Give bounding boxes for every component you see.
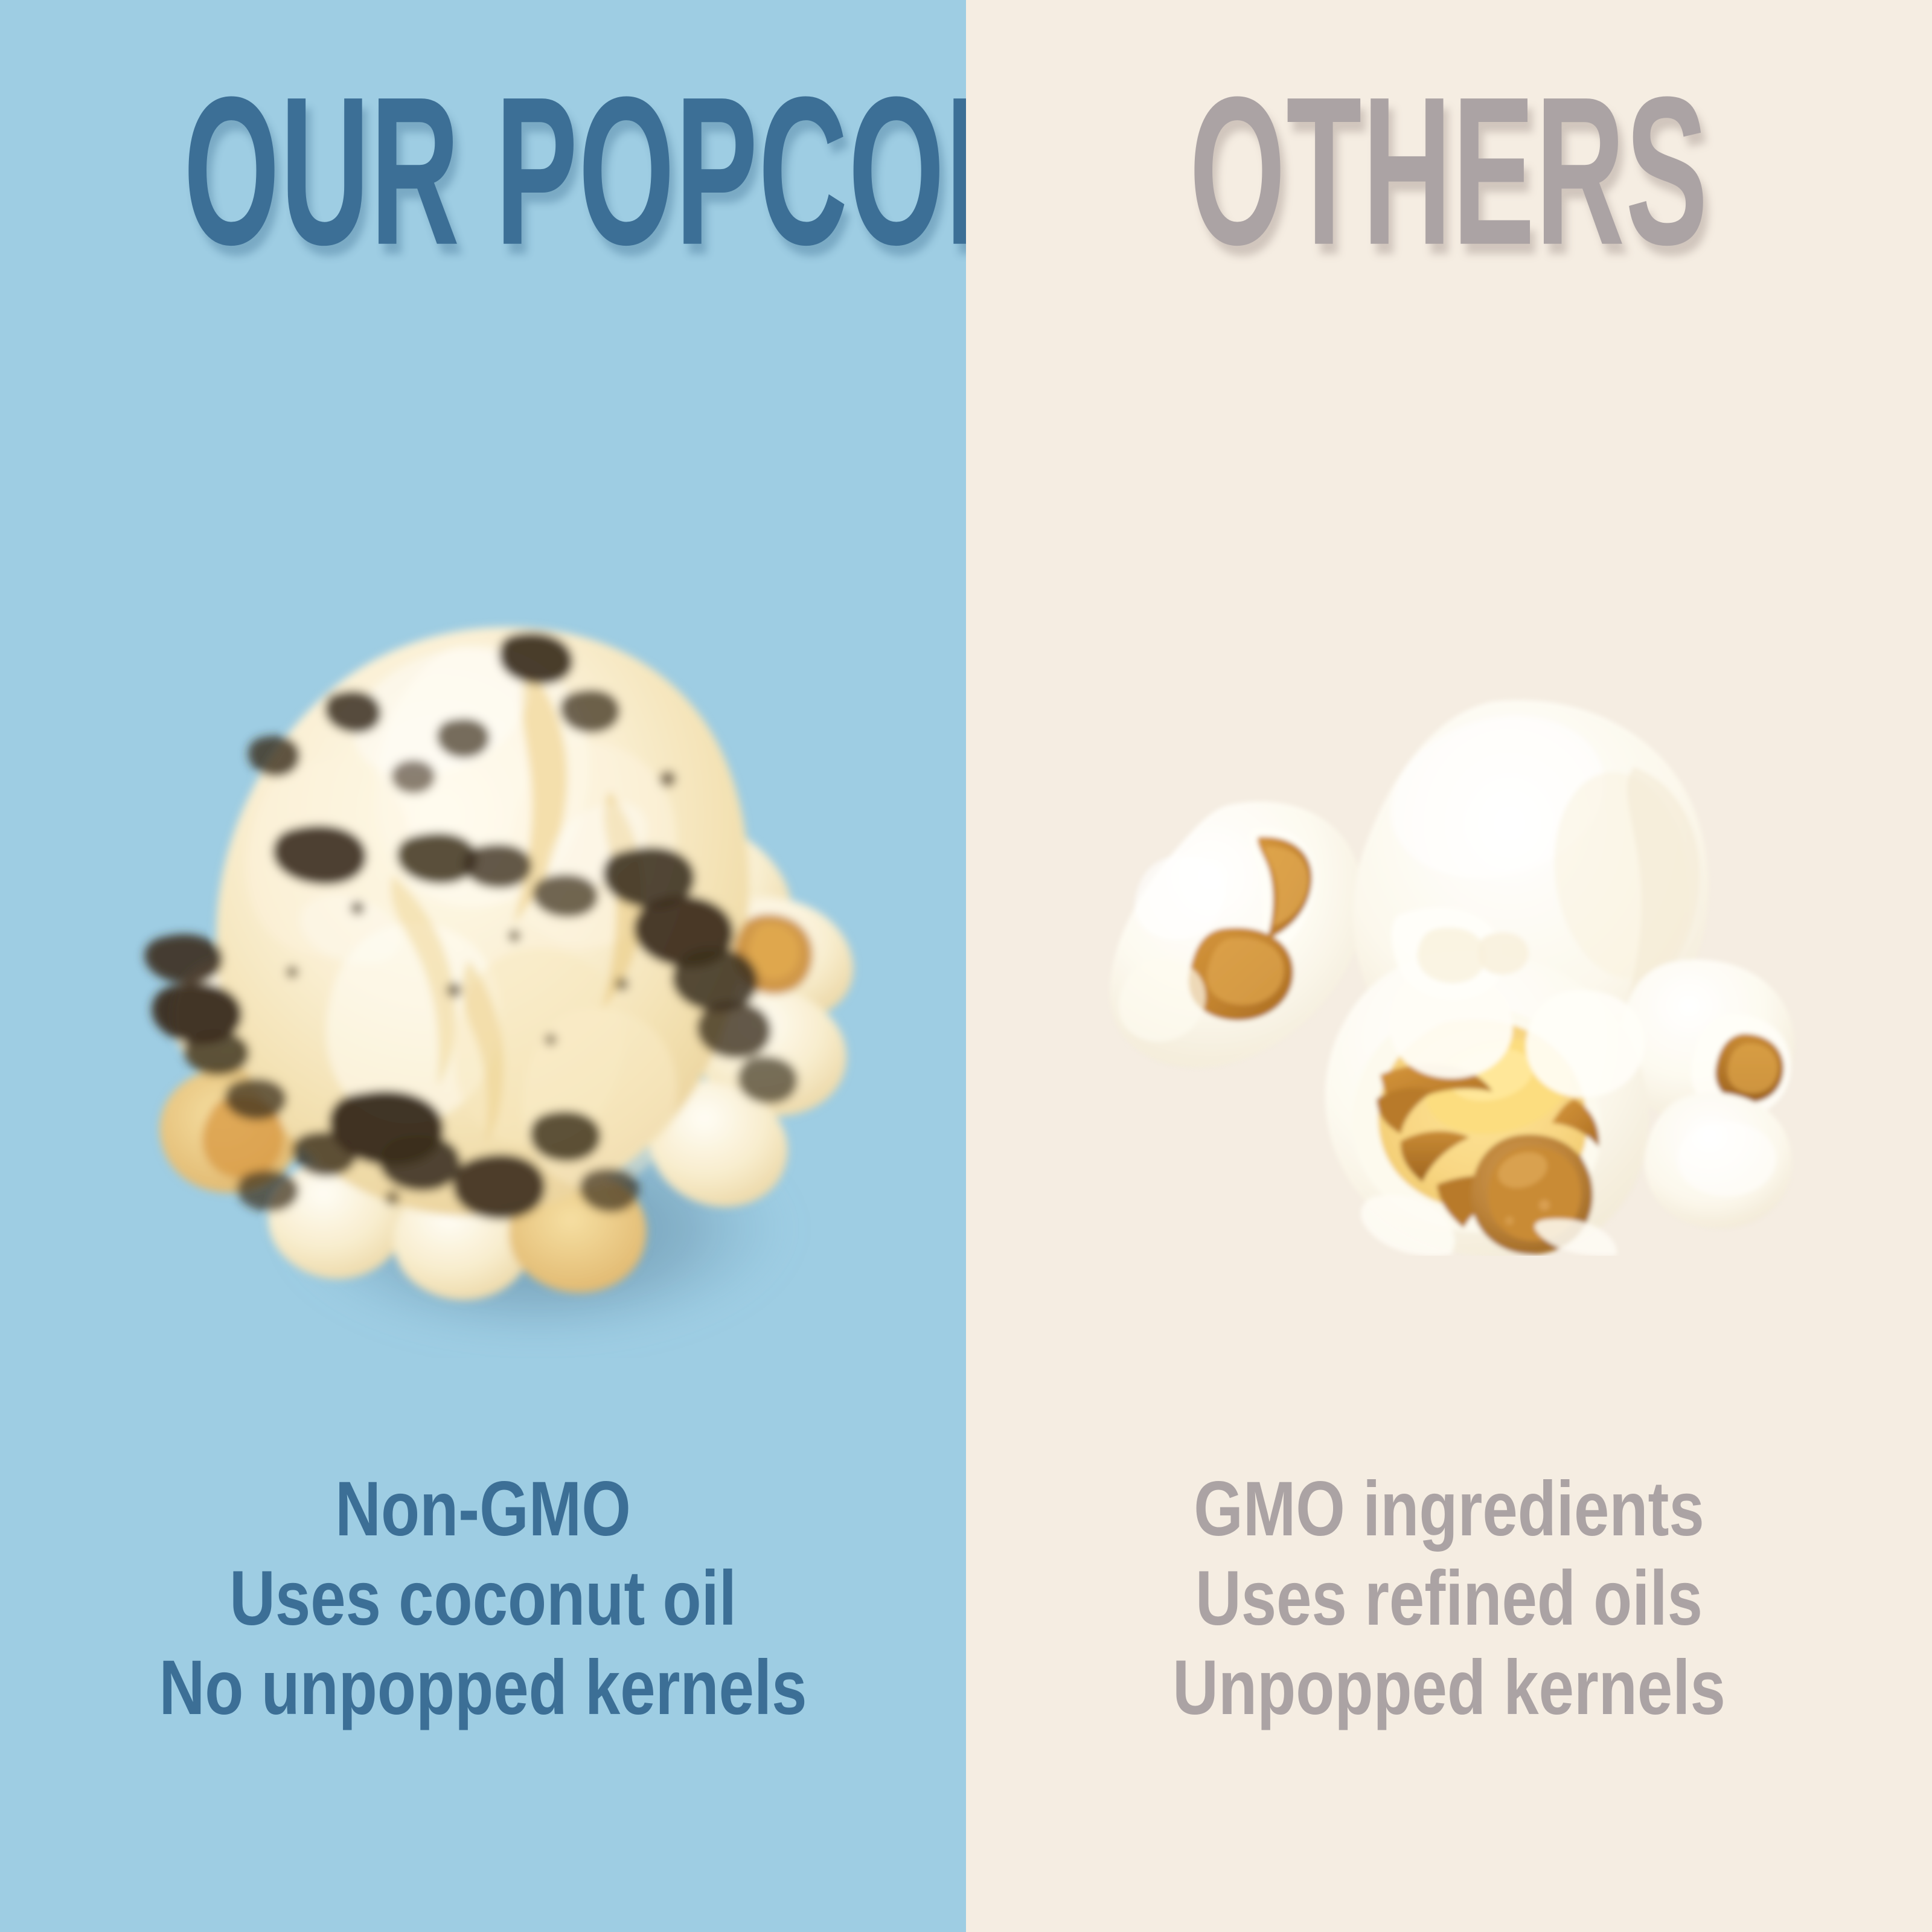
page-title-our-popcorn: OUR POPCORN: [184, 65, 782, 277]
our-popcorn-photo: [66, 561, 912, 1358]
claim-item: Unpopped kernels: [1053, 1643, 1845, 1733]
others-popcorn-photo: [1014, 676, 1884, 1256]
page-title-others: OTHERS: [1150, 65, 1748, 277]
claims-list-ours: Non-GMO Uses coconut oil No unpopped ker…: [0, 1465, 966, 1733]
claim-item: Non-GMO: [87, 1465, 879, 1554]
panel-our-popcorn: OUR POPCORN: [0, 0, 966, 1932]
claim-item: Uses refined oils: [1053, 1554, 1845, 1643]
claims-list-others: GMO ingredients Uses refined oils Unpopp…: [966, 1465, 1932, 1733]
claim-item: GMO ingredients: [1053, 1465, 1845, 1554]
comparison-graphic: OUR POPCORN: [0, 0, 1932, 1932]
claim-item: Uses coconut oil: [87, 1554, 879, 1643]
claim-item: No unpopped kernels: [87, 1643, 879, 1733]
panel-others: OTHERS: [966, 0, 1932, 1932]
